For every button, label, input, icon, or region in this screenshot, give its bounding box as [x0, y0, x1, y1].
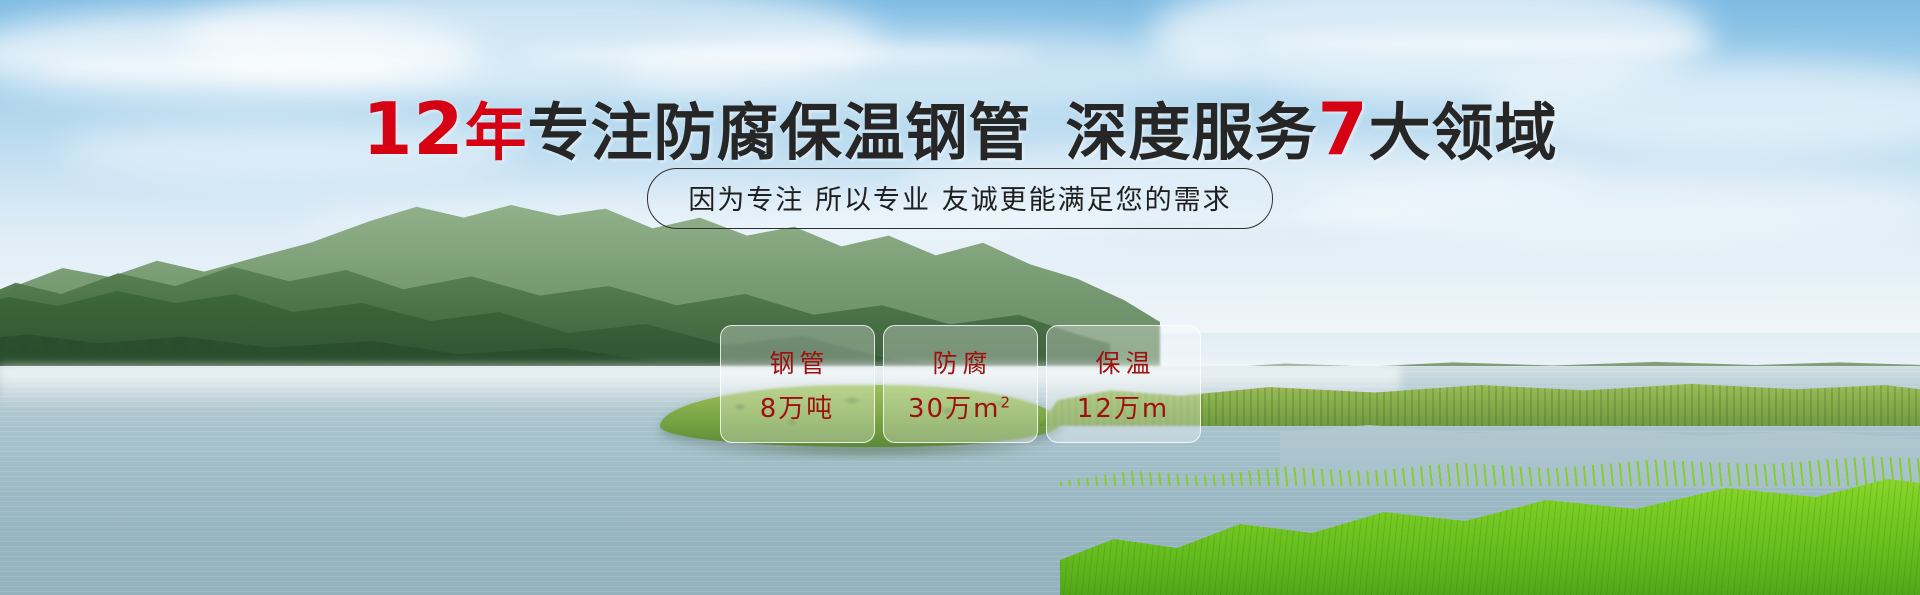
stat-card-value: 8万吨: [760, 388, 835, 425]
cloud-streak: [1260, 36, 1720, 50]
stat-card-value-text: 12万m: [1077, 394, 1169, 424]
headline-fields-number: 7: [1318, 87, 1369, 171]
stat-card-value-text: 30万m: [908, 394, 1000, 424]
stat-card-value: 12万m: [1077, 388, 1169, 425]
stat-card-insulation[interactable]: 保温 12万m: [1046, 325, 1201, 443]
cloud-streak: [40, 60, 420, 74]
stat-card-value: 30万m2: [908, 388, 1012, 425]
cloud-streak: [520, 48, 1040, 62]
subtitle-pill: 因为专注 所以专业 友诚更能满足您的需求: [647, 168, 1272, 229]
stat-card-value-text: 8万吨: [760, 394, 835, 424]
stat-card-value-exponent: 2: [1000, 393, 1012, 411]
headline: 12年专注防腐保温钢管深度服务7大领域: [0, 82, 1920, 172]
subtitle-container: 因为专注 所以专业 友诚更能满足您的需求: [0, 168, 1920, 229]
headline-years-number: 12: [362, 87, 464, 171]
stat-card-anticorrosion[interactable]: 防腐 30万m2: [883, 325, 1038, 443]
stat-card-steel-pipe[interactable]: 钢管 8万吨: [720, 325, 875, 443]
headline-segment-two: 深度服务: [1066, 96, 1318, 169]
headline-segment-one: 专注防腐保温钢管: [528, 96, 1032, 169]
hero-banner: 12年专注防腐保温钢管深度服务7大领域 因为专注 所以专业 友诚更能满足您的需求…: [0, 0, 1920, 595]
stat-card-list: 钢管 8万吨 防腐 30万m2 保温 12万m: [0, 325, 1920, 443]
stat-card-title: 保温: [1090, 344, 1155, 380]
stat-card-title: 防腐: [927, 344, 992, 380]
stat-card-title: 钢管: [764, 344, 829, 380]
headline-segment-three: 大领域: [1369, 96, 1558, 169]
headline-years-unit: 年: [465, 96, 528, 169]
